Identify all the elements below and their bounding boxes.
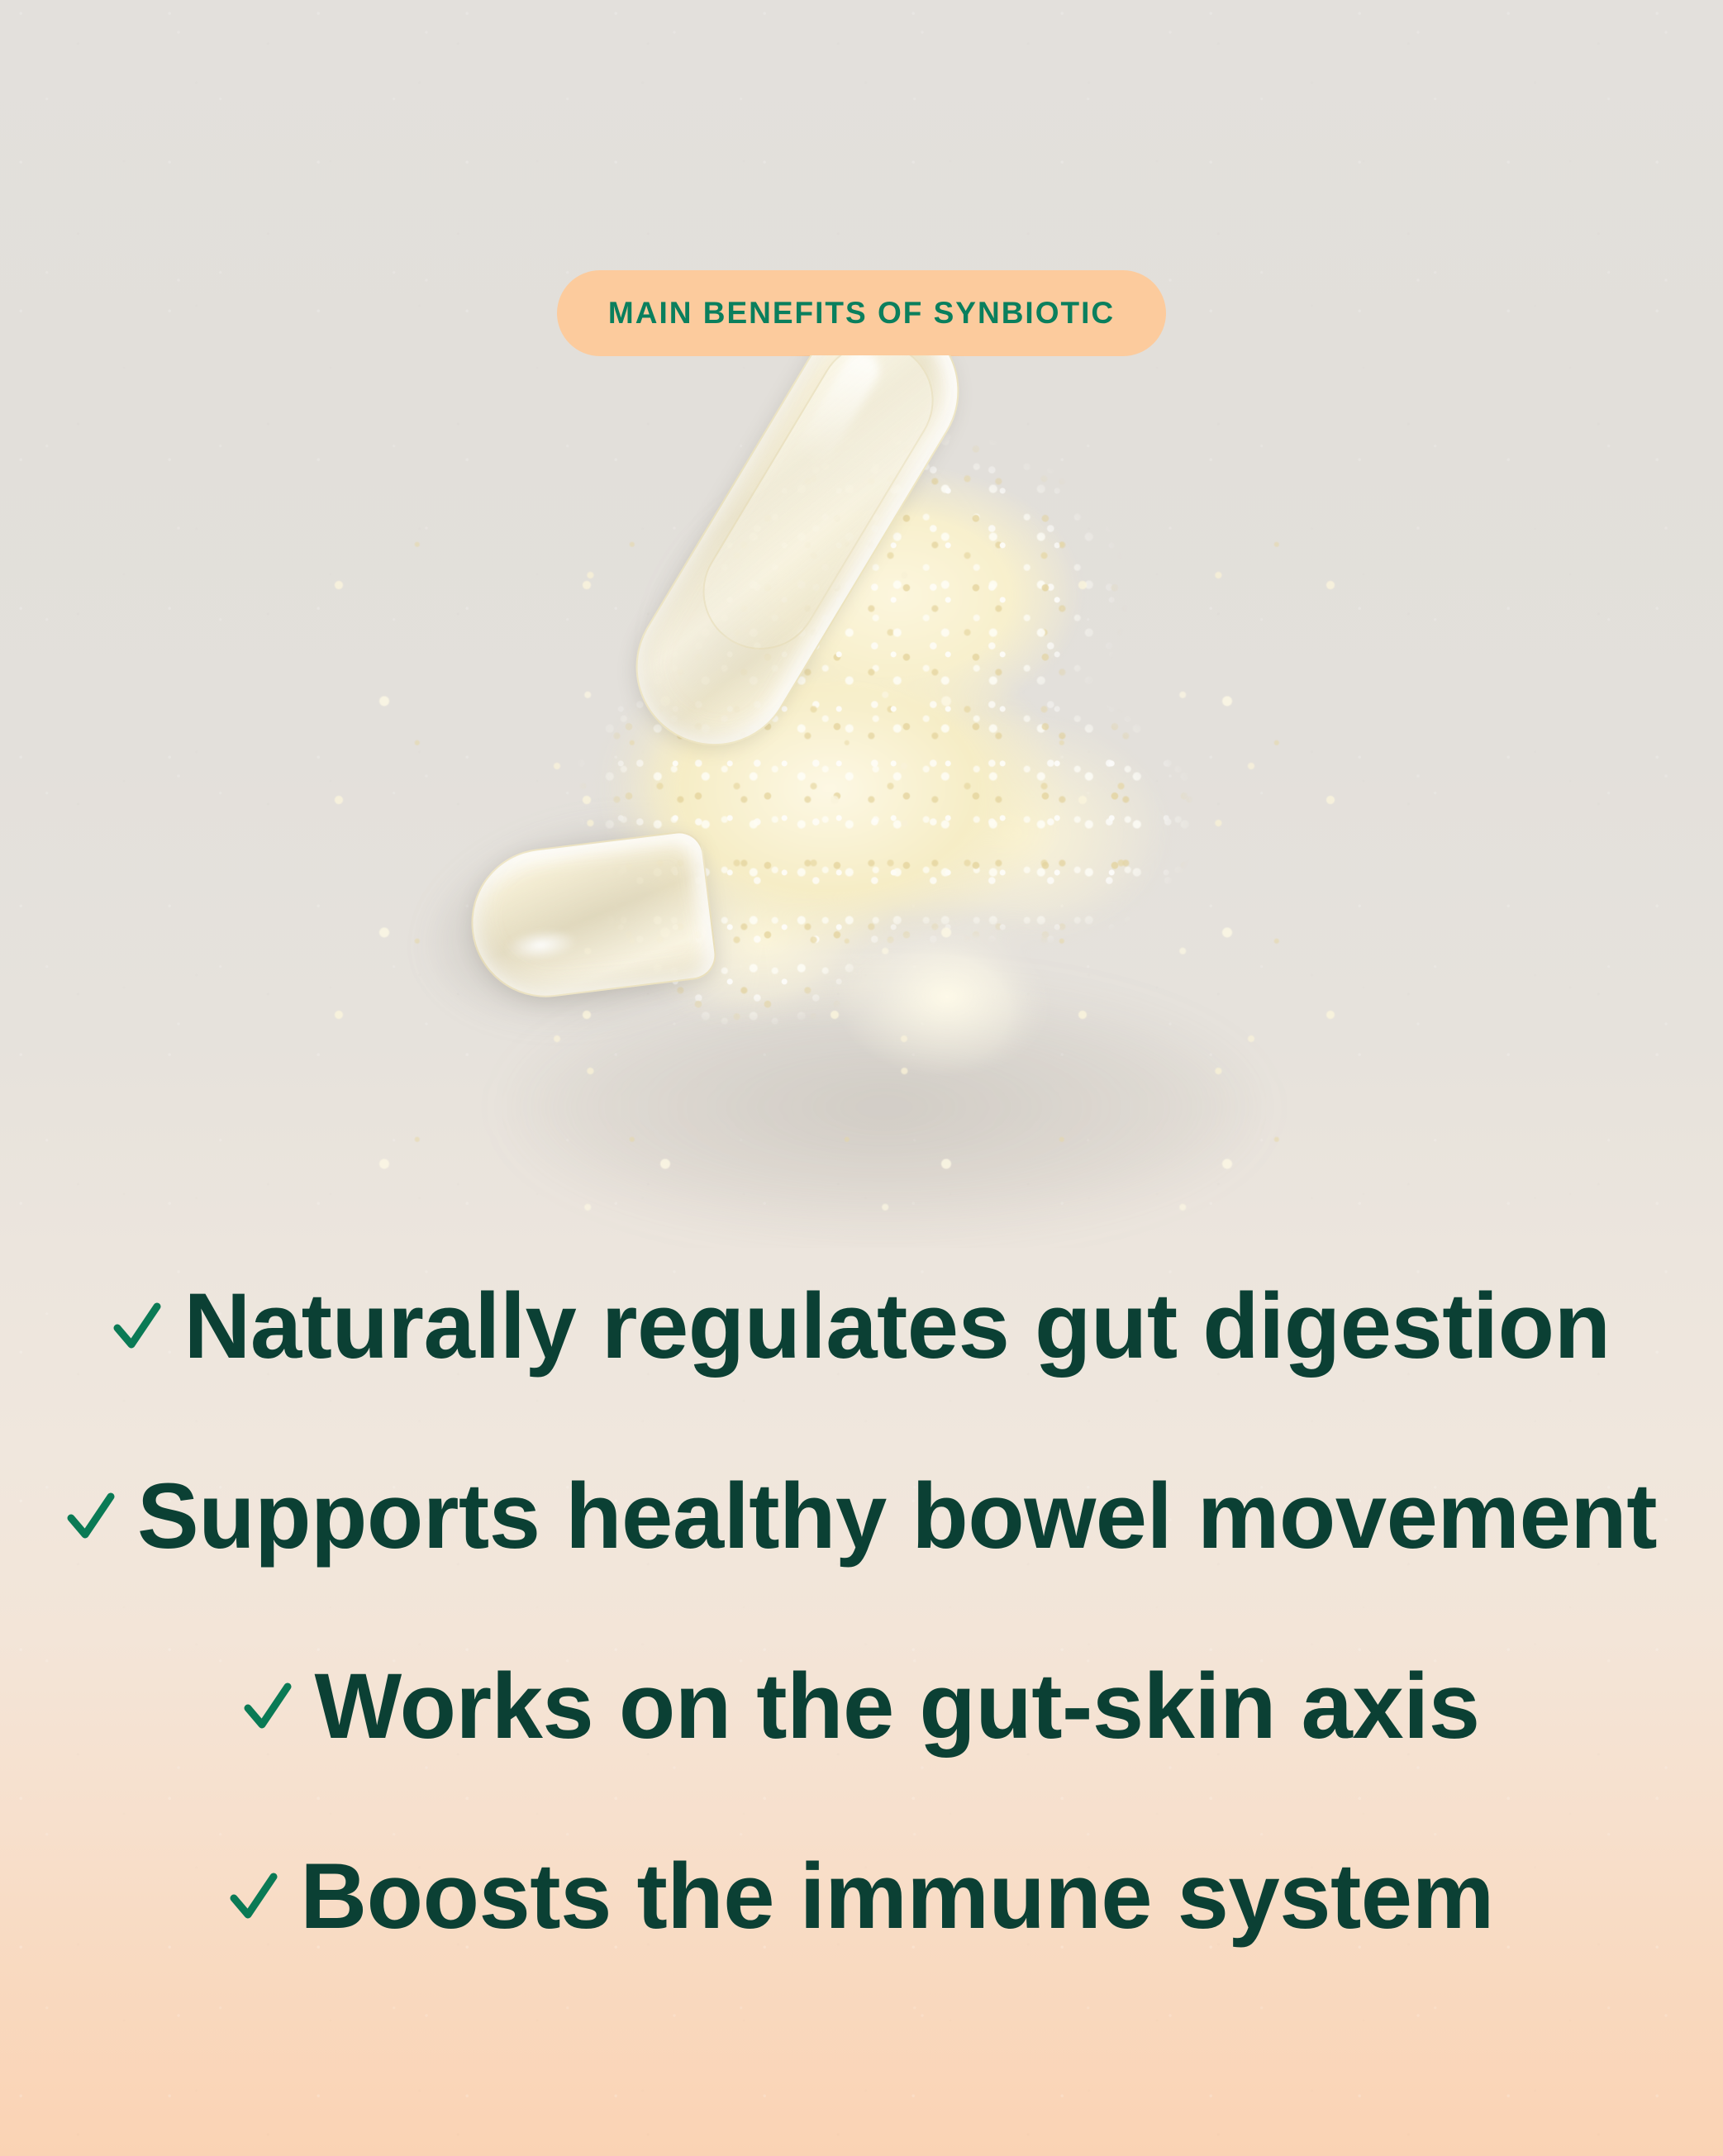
benefits-poster: MAIN BENEFITS OF SYNBIOTIC Naturally reg… (0, 0, 1723, 2156)
check-icon (243, 1675, 293, 1738)
product-photo (0, 355, 1723, 1248)
benefit-label: Works on the gut-skin axis (314, 1660, 1479, 1753)
benefit-label: Supports healthy bowel movement (137, 1470, 1657, 1563)
badge-label: MAIN BENEFITS OF SYNBIOTIC (608, 296, 1115, 331)
badge-container: MAIN BENEFITS OF SYNBIOTIC (0, 270, 1723, 356)
check-icon (66, 1485, 116, 1548)
check-icon (112, 1295, 162, 1358)
benefit-item-3: Works on the gut-skin axis (0, 1611, 1723, 1801)
benefit-item-1: Naturally regulates gut digestion (0, 1231, 1723, 1421)
benefit-label: Naturally regulates gut digestion (183, 1280, 1610, 1373)
main-benefits-badge: MAIN BENEFITS OF SYNBIOTIC (557, 270, 1166, 356)
benefits-list: Naturally regulates gut digestion Suppor… (0, 1231, 1723, 1992)
benefit-item-2: Supports healthy bowel movement (0, 1421, 1723, 1611)
benefit-label: Boosts the immune system (300, 1850, 1493, 1943)
check-icon (229, 1865, 278, 1928)
benefit-item-4: Boosts the immune system (0, 1801, 1723, 1992)
